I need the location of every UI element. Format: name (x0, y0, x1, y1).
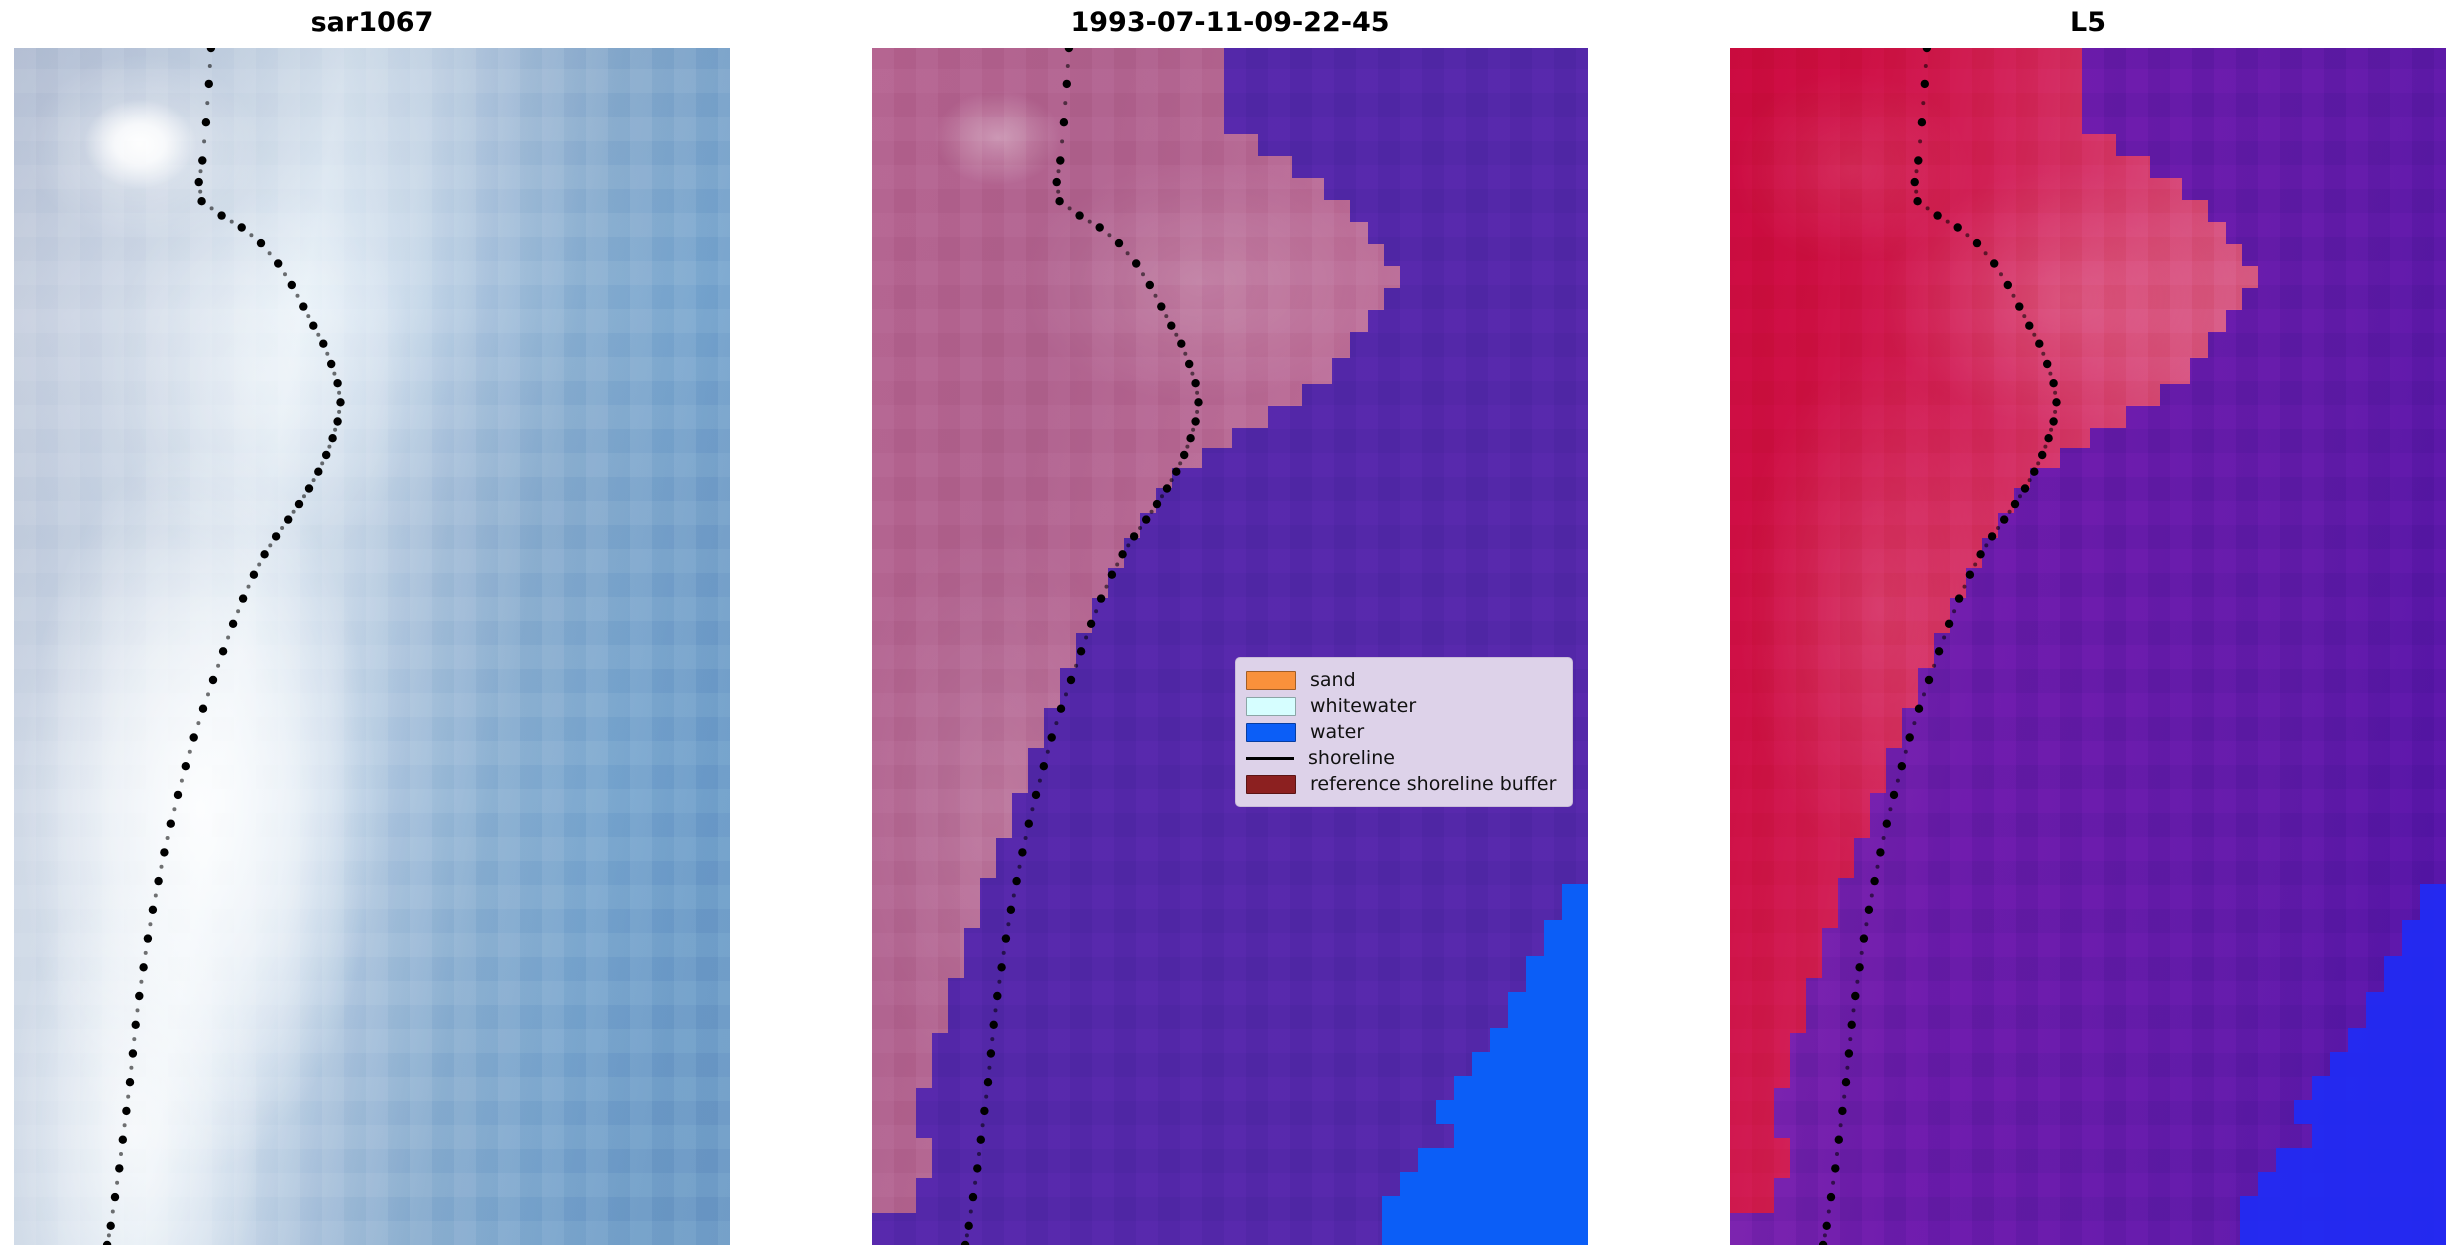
water-class-overlay-l5 (1730, 48, 2446, 1245)
legend-label-sand: sand (1310, 667, 1356, 693)
legend-item-reference-shoreline-buffer[interactable]: reference shoreline buffer (1246, 771, 1562, 797)
legend-label-shoreline: shoreline (1308, 745, 1395, 771)
water-class-overlay-classified (872, 48, 1588, 1245)
legend-label-whitewater: whitewater (1310, 693, 1416, 719)
legend-swatch-reference-shoreline-buffer (1246, 775, 1296, 794)
legend-swatch-whitewater (1246, 697, 1296, 716)
panel-title-l5: L5 (1730, 6, 2446, 40)
legend-label-water: water (1310, 719, 1364, 745)
legend-item-shoreline[interactable]: shoreline (1246, 745, 1562, 771)
legend-item-sand[interactable]: sand (1246, 667, 1562, 693)
legend-label-reference-shoreline-buffer: reference shoreline buffer (1310, 771, 1556, 797)
panel-l5-image[interactable] (1730, 48, 2446, 1245)
sar-pixel-texture (14, 48, 730, 1245)
legend-swatch-sand (1246, 671, 1296, 690)
panel-classified-image[interactable] (872, 48, 1588, 1245)
legend-item-whitewater[interactable]: whitewater (1246, 693, 1562, 719)
legend-item-water[interactable]: water (1246, 719, 1562, 745)
legend-line-shoreline (1246, 750, 1294, 767)
figure-canvas: sar1067 1993-07-11-09-22-45 L5 (0, 0, 2460, 1259)
legend-box[interactable]: sand whitewater water shoreline referenc… (1235, 657, 1573, 807)
panel-sar-image[interactable] (14, 48, 730, 1245)
panel-title-sar: sar1067 (14, 6, 730, 40)
panel-title-classified: 1993-07-11-09-22-45 (872, 6, 1588, 40)
legend-swatch-water (1246, 723, 1296, 742)
